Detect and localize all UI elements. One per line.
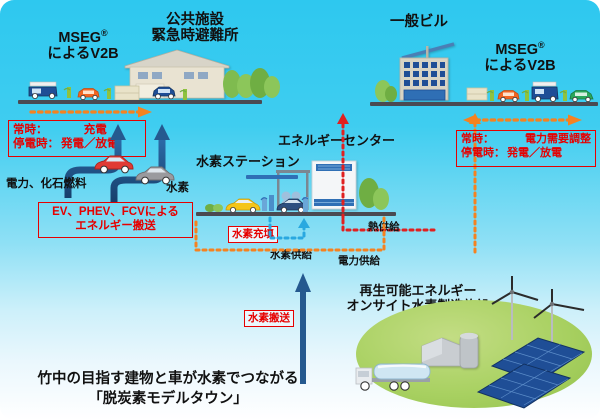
caption: 竹中の目指す建物と車が水素でつながる 「脱炭素モデルタウン」 — [8, 370, 328, 409]
van-icon — [26, 78, 60, 100]
hydrogen-transport-arrow — [292, 270, 318, 386]
tree-icon — [374, 78, 398, 104]
ev-transport-red-box: EV、PHEV、FCVによる エネルギー搬送 — [38, 202, 193, 238]
mseg-right-v2b: によるV2B — [484, 58, 555, 74]
car-icon — [92, 152, 136, 176]
tree-icon — [222, 62, 280, 100]
power-fossil-fuel-label: 電力、化石燃料 — [6, 178, 87, 191]
tanker-truck-icon — [352, 356, 438, 394]
mseg-right-text: MSEG — [495, 42, 538, 58]
tree-icon — [358, 175, 390, 213]
ev-transport-line1: EV、PHEV、FCVによる — [43, 205, 188, 219]
left-box-row1-key: 常時： — [13, 123, 48, 137]
caption-line2: 「脱炭素モデルタウン」 — [8, 390, 328, 410]
caption-line1: 竹中の目指す建物と車が水素でつながる — [8, 370, 328, 390]
registered-mark-icon: ® — [538, 40, 545, 50]
public-facility-line1: 公共施設 — [166, 12, 224, 28]
power-supply-path — [192, 214, 482, 258]
right-box-row1-val: 電力需要調整 — [496, 133, 591, 147]
public-facility-line2: 緊急時避難所 — [152, 28, 239, 44]
right-box-row2-val: 発電／放電 — [507, 147, 562, 161]
car-icon — [496, 88, 522, 103]
hydrogen-dispenser-icon — [300, 194, 314, 214]
public-facility-label: 公共施設 緊急時避難所 — [130, 12, 260, 44]
storage-tank-icon — [466, 86, 488, 102]
station-canopy — [246, 175, 298, 179]
road-right — [370, 102, 598, 106]
orange-dotted-arrow-left — [28, 104, 158, 120]
registered-mark-icon: ® — [101, 28, 108, 38]
van-icon — [530, 80, 560, 103]
general-building-label: 一般ビル — [390, 14, 448, 30]
hydrogen-transport-box: 水素搬送 — [244, 310, 294, 327]
office-building-icon — [392, 36, 464, 104]
mseg-left-v2b: によるV2B — [47, 46, 118, 62]
storage-tank-icon — [114, 84, 140, 101]
ev-transport-line2: エネルギー搬送 — [43, 219, 188, 233]
renewable-line1: 再生可能エネルギー — [359, 283, 476, 298]
car-icon — [568, 88, 596, 103]
diagram-canvas: MSEG® によるV2B 公共施設 緊急時避難所 — [0, 0, 600, 420]
mseg-left-text: MSEG — [58, 30, 101, 46]
hydrogen-station-forecourt — [204, 190, 308, 214]
right-box-row2-key: 停電時： — [461, 147, 505, 161]
hydrogen-label: 水素 — [166, 182, 189, 195]
mseg-right-label: MSEG® によるV2B — [460, 40, 580, 74]
power-supply-label: 電力供給 — [338, 256, 380, 268]
right-red-box: 常時：電力需要調整 停電時：発電／放電 — [456, 130, 596, 167]
orange-dotted-arrow-right — [462, 112, 584, 128]
left-box-row2-key: 停電時： — [13, 137, 59, 151]
car-icon — [76, 86, 102, 101]
heat-supply-arrow — [334, 112, 362, 220]
solar-panel-icon — [472, 322, 600, 406]
ev-charger-icon — [62, 85, 76, 100]
car-icon — [150, 84, 178, 100]
right-box-row1-key: 常時： — [461, 133, 494, 147]
